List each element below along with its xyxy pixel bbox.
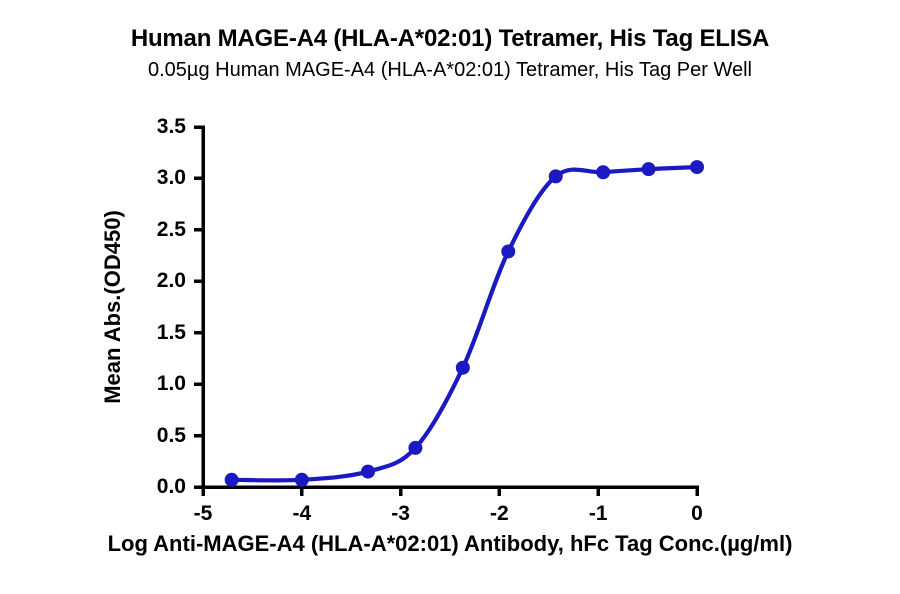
data-point [501,244,515,258]
y-tick-label: 0.0 [120,475,186,499]
data-point [690,160,704,174]
x-axis-title: Log Anti-MAGE-A4 (HLA-A*02:01) Antibody,… [0,531,900,557]
x-tick-label: -3 [391,502,410,526]
data-point [408,441,422,455]
data-point [642,162,656,176]
y-tick-label: 3.0 [120,166,186,190]
x-tick-label: -1 [589,502,608,526]
y-tick-label: 3.5 [120,115,186,139]
x-tick-label: -2 [490,502,509,526]
y-tick-label: 2.0 [120,269,186,293]
x-tick-label: -5 [194,502,213,526]
data-point [295,473,309,487]
data-point [596,165,610,179]
axes-group [194,125,699,496]
y-tick-label: 2.5 [120,218,186,242]
x-tick-label: 0 [691,502,703,526]
y-tick-label: 0.5 [120,424,186,448]
y-axis-title: Mean Abs.(OD450) [100,157,126,457]
data-curve-0 [232,167,697,480]
plot-svg [0,0,900,594]
data-point [456,361,470,375]
data-curve-group [232,167,697,480]
elisa-chart-figure: Human MAGE-A4 (HLA-A*02:01) Tetramer, Hi… [0,0,900,594]
plot-area: 0.00.51.01.52.02.53.03.5 -5-4-3-2-10 Mea… [0,0,900,594]
x-tick-label: -4 [292,502,311,526]
y-tick-label: 1.5 [120,321,186,345]
data-point [549,169,563,183]
data-point [361,465,375,479]
data-point [225,473,239,487]
y-tick-label: 1.0 [120,372,186,396]
data-points-group [225,160,704,487]
